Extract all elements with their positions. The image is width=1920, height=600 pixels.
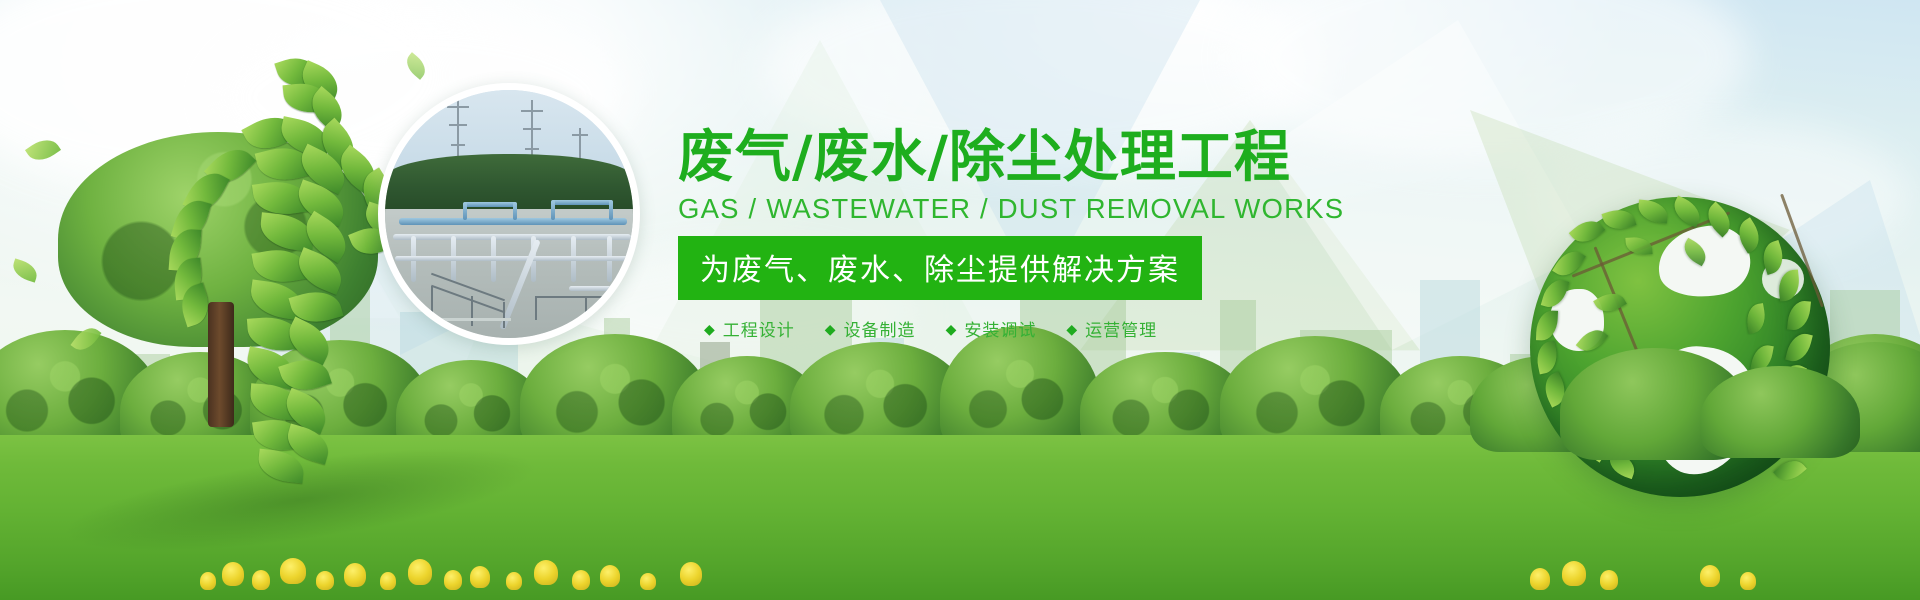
feature-label: 安装调试 xyxy=(964,316,1036,341)
diamond-icon: ◆ xyxy=(704,322,715,336)
feature-list: ◆ 工程设计 ◆ 设备制造 ◆ 安装调试 ◆ 运营管理 xyxy=(678,316,1418,341)
headline-copy-block: 废气/废水/除尘处理工程 GAS / WASTEWATER / DUST REM… xyxy=(678,128,1418,341)
feature-item-design[interactable]: ◆ 工程设计 xyxy=(704,316,795,341)
diamond-icon: ◆ xyxy=(825,322,836,336)
feature-label: 工程设计 xyxy=(723,316,795,341)
feature-label: 设备制造 xyxy=(844,316,916,341)
wastewater-plant-photo xyxy=(385,90,633,338)
leaf-man-runner-figure xyxy=(150,55,410,475)
subtitle-english: GAS / WASTEWATER / DUST REMOVAL WORKS xyxy=(678,193,1418,225)
tagline-text: 为废气、废水、除尘提供解决方案 xyxy=(700,253,1180,288)
wildflowers xyxy=(0,510,1920,590)
feature-item-operations[interactable]: ◆ 运营管理 xyxy=(1066,316,1157,341)
tagline-bar: 为废气、废水、除尘提供解决方案 xyxy=(678,236,1202,300)
leafy-earth-globe xyxy=(1508,185,1878,515)
feature-label: 运营管理 xyxy=(1085,316,1157,341)
wastewater-plant-photo-circle xyxy=(378,83,640,345)
feature-item-manufacturing[interactable]: ◆ 设备制造 xyxy=(825,316,916,341)
diamond-icon: ◆ xyxy=(1066,322,1077,336)
environmental-engineering-banner: 废气/废水/除尘处理工程 GAS / WASTEWATER / DUST REM… xyxy=(0,0,1920,600)
feature-item-installation[interactable]: ◆ 安装调试 xyxy=(946,316,1037,341)
diamond-icon: ◆ xyxy=(946,322,957,336)
page-title: 废气/废水/除尘处理工程 xyxy=(678,128,1418,187)
